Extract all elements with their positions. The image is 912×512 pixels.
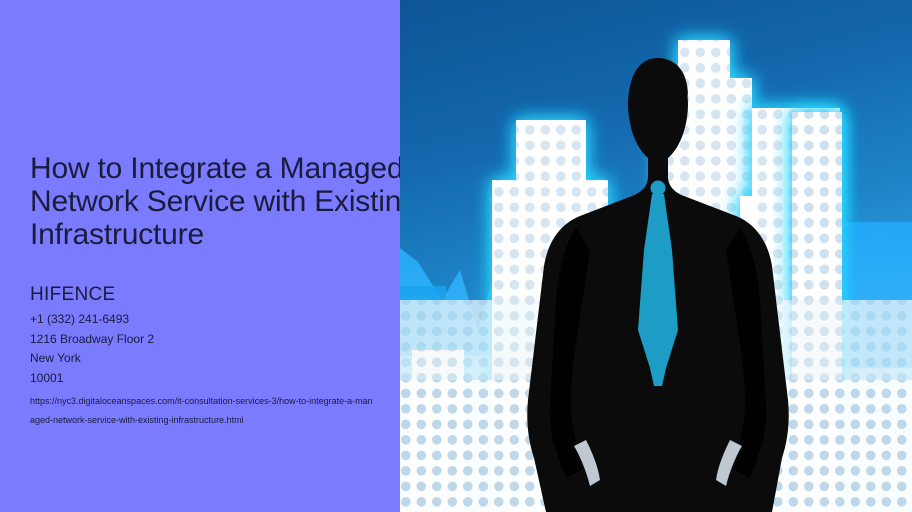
- source-url: https://nyc3.digitaloceanspaces.com/it-c…: [30, 392, 375, 430]
- city-skyline-illustration: [400, 0, 912, 512]
- contact-street: 1216 Broadway Floor 2: [30, 330, 154, 350]
- contact-phone: +1 (332) 241-6493: [30, 310, 154, 330]
- artwork-panel: [400, 0, 912, 512]
- slide-canvas: How to Integrate a Managed Network Servi…: [0, 0, 912, 512]
- page-title: How to Integrate a Managed Network Servi…: [30, 152, 400, 251]
- brand-name: HIFENCE: [30, 284, 116, 306]
- text-panel: How to Integrate a Managed Network Servi…: [0, 0, 400, 512]
- contact-city: New York: [30, 349, 154, 369]
- contact-block: +1 (332) 241-6493 1216 Broadway Floor 2 …: [30, 310, 154, 388]
- contact-zip: 10001: [30, 369, 154, 389]
